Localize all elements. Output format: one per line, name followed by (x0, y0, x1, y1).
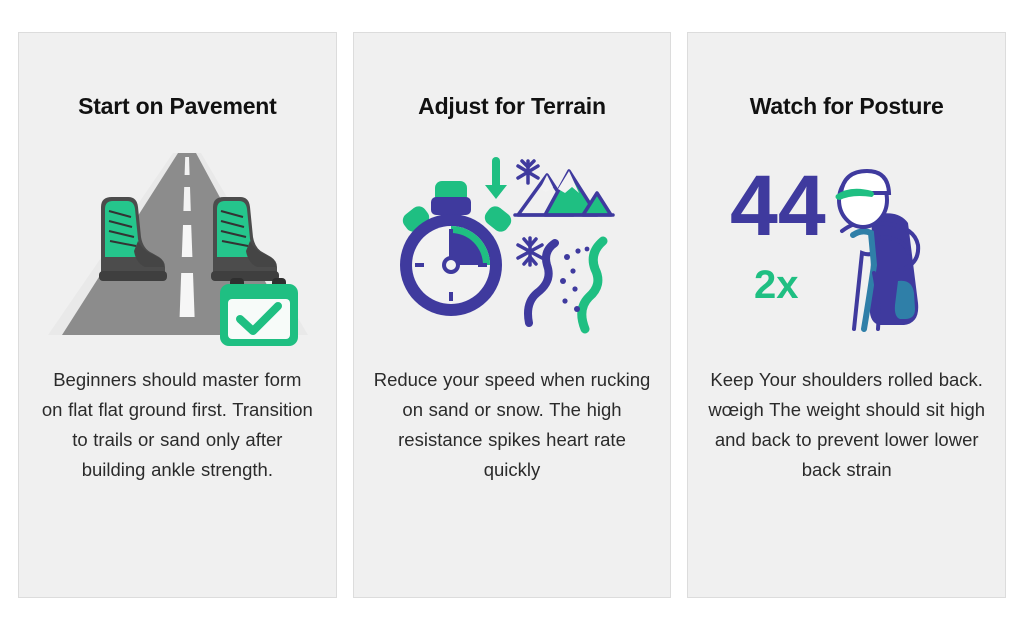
posture-scene-svg: 44 2x (722, 153, 972, 343)
card-title: Watch for Posture (750, 95, 944, 118)
trail-wave-navy (528, 243, 555, 323)
stat-multiplier: 2x (754, 263, 799, 307)
calendar-check-icon (220, 278, 298, 346)
stat-big-number: 44 (730, 158, 826, 254)
cards-board: Start on Pavement (0, 0, 1024, 628)
left-boot-sole (99, 271, 167, 281)
tick-9 (415, 263, 424, 267)
down-arrow-icon (485, 161, 507, 199)
card-body-text: Keep Your shoulders rolled back. wœigh T… (701, 365, 992, 485)
terrain-scene-svg (397, 153, 627, 343)
tick-3 (478, 263, 487, 267)
snowflake-top-icon (518, 161, 538, 183)
illustration-stopwatch-with-terrain-icons (354, 140, 671, 355)
road-dash (184, 187, 191, 211)
right-hiking-boot (211, 197, 279, 281)
trail-wave-green (582, 241, 603, 329)
backpack-pocket (895, 280, 915, 318)
card-start-on-pavement[interactable]: Start on Pavement (18, 32, 337, 598)
card-body-text: Beginners should master form on flat fla… (41, 365, 313, 485)
tick-6 (449, 292, 453, 301)
road-dash (185, 157, 190, 175)
road-dash (182, 225, 193, 257)
card-body-text: Reduce your speed when rucking on sand o… (373, 365, 652, 485)
snowflake-bottom-icon (518, 238, 542, 265)
illustration-road-with-boots-and-calendar (19, 140, 336, 355)
stopwatch-pivot-inner (446, 260, 456, 270)
arrow-head (485, 185, 507, 199)
right-boot-sole (211, 271, 279, 281)
card-title: Adjust for Terrain (418, 95, 606, 118)
road-dash (180, 273, 195, 317)
road-scene-svg (42, 145, 312, 350)
illustration-rucker-with-stats: 44 2x (688, 140, 1005, 355)
card-watch-for-posture[interactable]: Watch for Posture 44 2x (687, 32, 1006, 598)
card-adjust-for-terrain[interactable]: Adjust for Terrain (353, 32, 672, 598)
card-title: Start on Pavement (78, 95, 277, 118)
stopwatch-neck (431, 197, 471, 215)
person-with-backpack (835, 171, 918, 329)
